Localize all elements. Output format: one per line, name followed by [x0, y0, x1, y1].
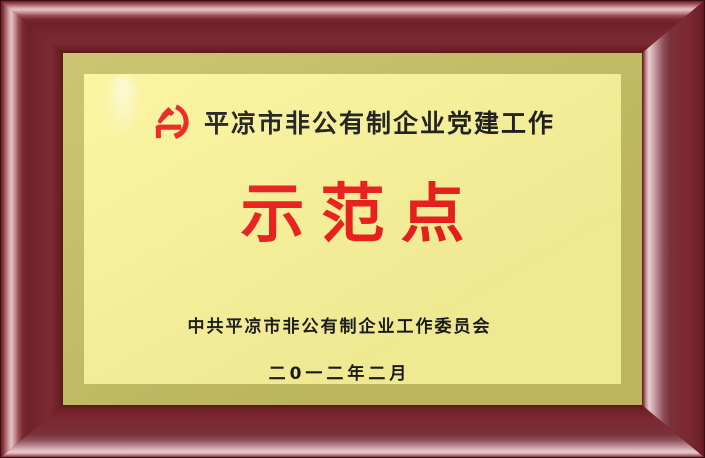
frame-bevel-left: [0, 0, 63, 458]
certificate-panel: 平凉市非公有制企业党建工作 示范点 中共平凉市非公有制企业工作委员会 二0一二年…: [84, 74, 621, 384]
issuing-organization: 中共平凉市非公有制企业工作委员会: [84, 312, 621, 337]
frame-bevel-top: [0, 0, 705, 53]
cpc-hammer-sickle-emblem: [150, 102, 192, 144]
plaque-title: 平凉市非公有制企业党建工作: [204, 111, 555, 136]
plaque-headline: 示范点: [84, 182, 621, 249]
award-plaque: 平凉市非公有制企业党建工作 示范点 中共平凉市非公有制企业工作委员会 二0一二年…: [0, 0, 705, 458]
plaque-content: 平凉市非公有制企业党建工作 示范点 中共平凉市非公有制企业工作委员会 二0一二年…: [84, 74, 621, 384]
title-row: 平凉市非公有制企业党建工作: [84, 102, 621, 144]
frame-bevel-bottom: [0, 405, 705, 458]
frame-bevel-right: [642, 0, 705, 458]
issue-date: 二0一二年二月: [84, 359, 621, 384]
olive-mat-border: 平凉市非公有制企业党建工作 示范点 中共平凉市非公有制企业工作委员会 二0一二年…: [63, 53, 642, 405]
